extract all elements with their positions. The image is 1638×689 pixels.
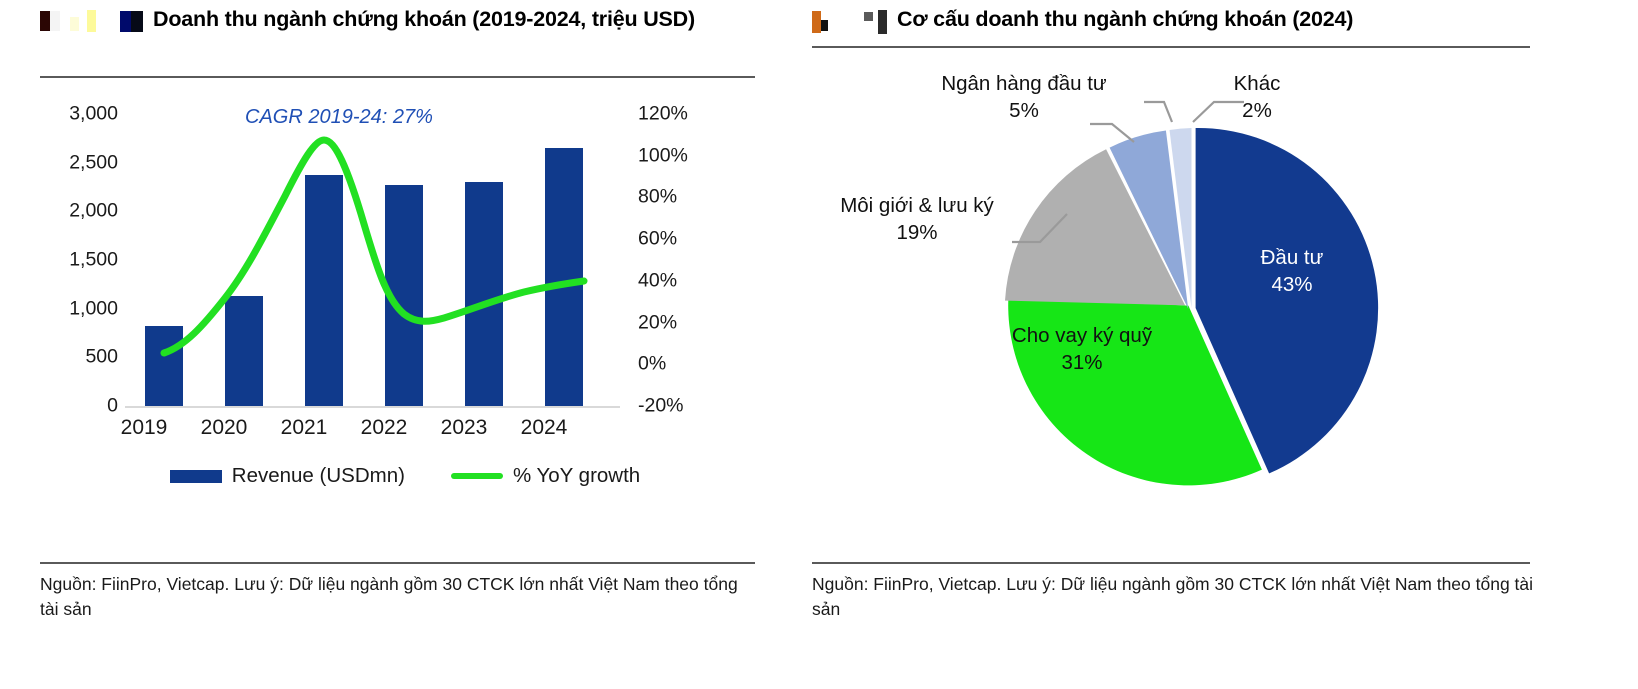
left-footnote: Nguồn: FiinPro, Vietcap. Lưu ý: Dữ liệu …	[40, 572, 760, 622]
pie-label-khac-text: Khác	[1234, 72, 1281, 95]
x-axis-label-2022: 2022	[339, 416, 429, 440]
legend-line-swatch-icon	[451, 473, 503, 479]
legend-label-revenue: Revenue (USDmn)	[232, 464, 405, 488]
y-axis-tick: 500	[40, 346, 118, 369]
leader-line-ngan-hang	[1090, 124, 1134, 142]
pie-label-khac-value: 2%	[1242, 99, 1272, 122]
pie-label-dau-tu: Đầu tư 43%	[1212, 244, 1372, 298]
figure-container: Doanh thu ngành chứng khoán (2019-2024, …	[0, 0, 1638, 689]
pie-label-ngan-hang-dau-tu-text: Ngân hàng đầu tư	[941, 72, 1106, 95]
secondary-y-axis-tick: 100%	[638, 144, 728, 167]
secondary-y-axis-tick: 0%	[638, 353, 728, 376]
right-footnote-divider	[812, 562, 1530, 564]
left-title-row: Doanh thu ngành chứng khoán (2019-2024, …	[40, 4, 770, 35]
panel-revenue-mix-pie: Cơ cấu doanh thu ngành chứng khoán (2024…	[800, 0, 1638, 689]
pie-label-cho-vay-ky-quy-value: 31%	[1061, 351, 1102, 374]
secondary-y-axis-tick: 60%	[638, 228, 728, 251]
pie-label-dau-tu-value: 43%	[1271, 273, 1312, 296]
secondary-y-axis-tick: 40%	[638, 269, 728, 292]
pie-label-khac: Khác 2%	[1182, 70, 1332, 124]
revenue-bar-chart: 3,000 2,500 2,000 1,500 1,000 500 0 120%…	[40, 96, 755, 526]
leader-line-khac-a	[1144, 102, 1172, 122]
x-axis-label-2023: 2023	[419, 416, 509, 440]
y-axis-tick: 1,500	[40, 249, 118, 272]
revenue-mix-pie-chart: Ngân hàng đầu tư 5% Khác 2% Môi giới & l…	[812, 62, 1572, 552]
bar-chart-legend: Revenue (USDmn) % YoY growth	[125, 464, 685, 488]
pie-label-dau-tu-text: Đầu tư	[1261, 246, 1324, 269]
decorative-blocks-icon-right	[812, 4, 887, 34]
panel-revenue-bar: Doanh thu ngành chứng khoán (2019-2024, …	[0, 0, 800, 689]
legend-bar-swatch-icon	[170, 470, 222, 483]
plot-area	[125, 114, 605, 406]
legend-label-yoy-growth: % YoY growth	[513, 464, 640, 488]
right-title-divider	[812, 46, 1530, 48]
right-chart-title: Cơ cấu doanh thu ngành chứng khoán (2024…	[897, 4, 1353, 35]
pie-label-ngan-hang-dau-tu-value: 5%	[1009, 99, 1039, 122]
pie-svg	[812, 62, 1572, 532]
right-title-row: Cơ cấu doanh thu ngành chứng khoán (2024…	[812, 4, 1572, 35]
x-axis-label-2021: 2021	[259, 416, 349, 440]
left-footnote-divider	[40, 562, 755, 564]
legend-item-yoy-growth[interactable]: % YoY growth	[451, 464, 640, 488]
y-axis-tick: 0	[40, 395, 118, 418]
pie-label-cho-vay-ky-quy-text: Cho vay ký quỹ	[1012, 324, 1152, 347]
x-axis-label-2024: 2024	[499, 416, 589, 440]
secondary-y-axis-tick: -20%	[638, 395, 728, 418]
left-title-divider	[40, 76, 755, 78]
left-chart-title: Doanh thu ngành chứng khoán (2019-2024, …	[153, 4, 695, 35]
y-axis-tick: 1,000	[40, 297, 118, 320]
x-axis-label-2020: 2020	[179, 416, 269, 440]
right-footnote: Nguồn: FiinPro, Vietcap. Lưu ý: Dữ liệu …	[812, 572, 1542, 622]
pie-label-moi-gioi-luu-ky: Môi giới & lưu ký 19%	[822, 192, 1012, 246]
secondary-y-axis-tick: 120%	[638, 103, 728, 126]
x-axis-label-2019: 2019	[99, 416, 189, 440]
x-axis-baseline	[125, 406, 620, 408]
pie-label-moi-gioi-luu-ky-text: Môi giới & lưu ký	[840, 194, 994, 217]
yoy-growth-line	[125, 114, 605, 406]
pie-label-ngan-hang-dau-tu: Ngân hàng đầu tư 5%	[904, 70, 1144, 124]
pie-label-cho-vay-ky-quy: Cho vay ký quỹ 31%	[1002, 322, 1162, 376]
y-axis-tick: 2,000	[40, 200, 118, 223]
secondary-y-axis-tick: 80%	[638, 186, 728, 209]
y-axis-tick: 2,500	[40, 151, 118, 174]
pie-label-moi-gioi-luu-ky-value: 19%	[896, 221, 937, 244]
secondary-y-axis-tick: 20%	[638, 311, 728, 334]
y-axis-tick: 3,000	[40, 103, 118, 126]
decorative-blocks-icon	[40, 4, 143, 32]
legend-item-revenue[interactable]: Revenue (USDmn)	[170, 464, 405, 488]
